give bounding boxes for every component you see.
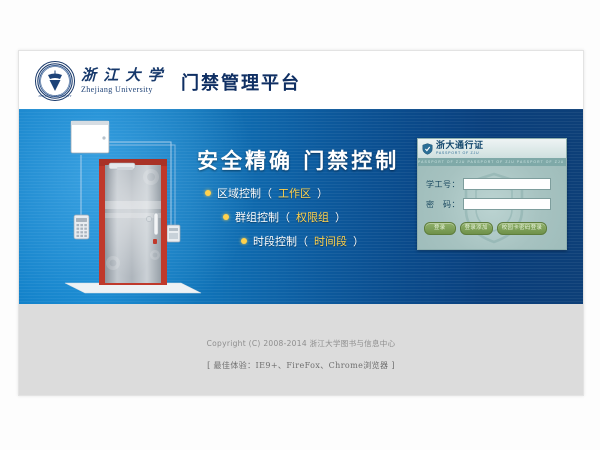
login-title-zh: 浙大通行证: [436, 142, 484, 151]
password-input[interactable]: [463, 198, 551, 210]
field-label-userid: 学工号：: [426, 179, 460, 190]
bullet-dot-icon: [241, 238, 247, 244]
university-logo[interactable]: ZHEJIANG UNIVERSITY 浙 江 大 学 Zhejiang Uni…: [35, 61, 164, 101]
feature-label: 时段控制（: [253, 233, 308, 249]
bullet-dot-icon: [223, 214, 229, 220]
feature-highlight: 权限组: [296, 209, 329, 225]
field-label-password: 密 码：: [426, 199, 460, 210]
feature-tail: ）: [317, 185, 328, 201]
userid-input[interactable]: [463, 178, 551, 190]
login-panel-header: 浙大通行证 PASSPORT OF ZJU: [418, 139, 567, 159]
site-footer: Copyright (C) 2008-2014 浙江大学图书与信息中心 [ 最佳…: [19, 304, 583, 395]
field-password: 密 码：: [426, 198, 551, 210]
svg-text:ZHEJIANG UNIVERSITY: ZHEJIANG UNIVERSITY: [38, 94, 72, 98]
feature-highlight: 工作区: [278, 185, 311, 201]
feature-label: 群组控制（: [235, 209, 290, 225]
banner-slogan: 安全精确 门禁控制: [197, 145, 399, 175]
campus-card-login-button[interactable]: 校园卡密码登录: [497, 222, 548, 235]
university-name-zh: 浙 江 大 学: [81, 67, 164, 84]
bullet-dot-icon: [205, 190, 211, 196]
zju-seal-icon: ZHEJIANG UNIVERSITY: [35, 61, 75, 101]
field-userid: 学工号：: [426, 178, 551, 190]
feature-label: 区域控制（: [217, 185, 272, 201]
copyright-text: Copyright (C) 2008-2014 浙江大学图书与信息中心: [19, 338, 583, 349]
content-card: ZHEJIANG UNIVERSITY 浙 江 大 学 Zhejiang Uni…: [18, 50, 584, 396]
feature-tail: ）: [335, 209, 346, 225]
feature-highlight: 时间段: [314, 233, 347, 249]
feature-item-time: 时段控制（时间段）: [241, 233, 405, 249]
login-button[interactable]: 登录: [424, 222, 456, 235]
browser-note: [ 最佳体验：IE9+、FireFox、Chrome浏览器 ]: [19, 360, 583, 371]
login-add-button[interactable]: 登录添加: [460, 222, 493, 235]
door-access-control-illustration: [53, 115, 213, 300]
university-name-en: Zhejiang University: [81, 85, 164, 95]
page-root: ZHEJIANG UNIVERSITY 浙 江 大 学 Zhejiang Uni…: [0, 0, 600, 450]
login-button-row: 登录 登录添加 校园卡密码登录: [424, 222, 562, 235]
feature-item-group: 群组控制（权限组）: [223, 209, 405, 225]
feature-item-area: 区域控制（工作区）: [205, 185, 405, 201]
login-form: 学工号： 密 码： 登录 登录添加 校园卡密码登录: [418, 166, 566, 249]
login-title-en: PASSPORT OF ZJU: [436, 152, 484, 156]
page-title: 门禁管理平台: [181, 69, 301, 95]
site-header: ZHEJIANG UNIVERSITY 浙 江 大 学 Zhejiang Uni…: [19, 51, 583, 110]
feature-list: 区域控制（工作区） 群组控制（权限组） 时段控制（时间段）: [205, 185, 405, 257]
shield-icon: [422, 143, 433, 155]
login-panel: 浙大通行证 PASSPORT OF ZJU PASSPORT OF ZJU PA…: [417, 138, 567, 250]
hero-banner: 安全精确 门禁控制 区域控制（工作区） 群组控制（权限组） 时段控制（时间段）: [19, 109, 583, 304]
feature-tail: ）: [353, 233, 364, 249]
